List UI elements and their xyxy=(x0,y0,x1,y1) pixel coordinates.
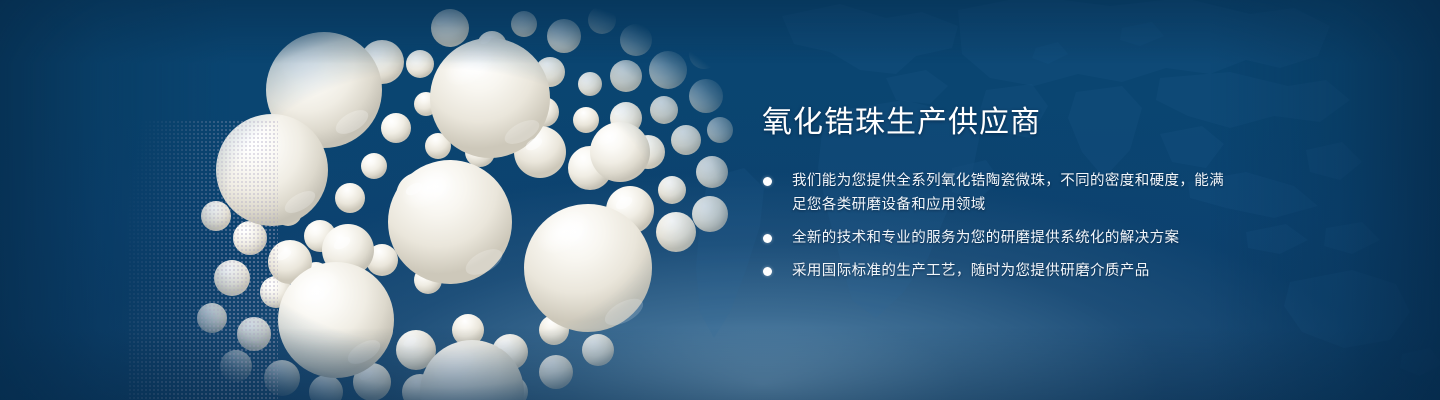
list-item-label: 全新的技术和专业的服务为您的研磨提供系统化的解决方案 xyxy=(792,226,1232,250)
bullet-dot-icon xyxy=(763,267,772,276)
banner-copy: 氧化锆珠生产供应商 我们能为您提供全系列氧化锆陶瓷微珠，不同的密度和硬度，能满足… xyxy=(762,104,1232,283)
page-title: 氧化锆珠生产供应商 xyxy=(762,104,1232,142)
bullet-dot-icon xyxy=(763,234,772,243)
list-item-label: 采用国际标准的生产工艺，随时为您提供研磨介质产品 xyxy=(792,259,1232,283)
promo-banner: 氧化锆珠生产供应商 我们能为您提供全系列氧化锆陶瓷微珠，不同的密度和硬度，能满足… xyxy=(0,0,1440,400)
bullet-dot-icon xyxy=(763,177,772,186)
list-item-label: 我们能为您提供全系列氧化锆陶瓷微珠，不同的密度和硬度，能满足您各类研磨设备和应用… xyxy=(792,169,1232,217)
list-item: 全新的技术和专业的服务为您的研磨提供系统化的解决方案 xyxy=(762,226,1232,250)
list-item: 采用国际标准的生产工艺，随时为您提供研磨介质产品 xyxy=(762,259,1232,283)
feature-list: 我们能为您提供全系列氧化锆陶瓷微珠，不同的密度和硬度，能满足您各类研磨设备和应用… xyxy=(762,169,1232,283)
list-item: 我们能为您提供全系列氧化锆陶瓷微珠，不同的密度和硬度，能满足您各类研磨设备和应用… xyxy=(762,169,1232,217)
